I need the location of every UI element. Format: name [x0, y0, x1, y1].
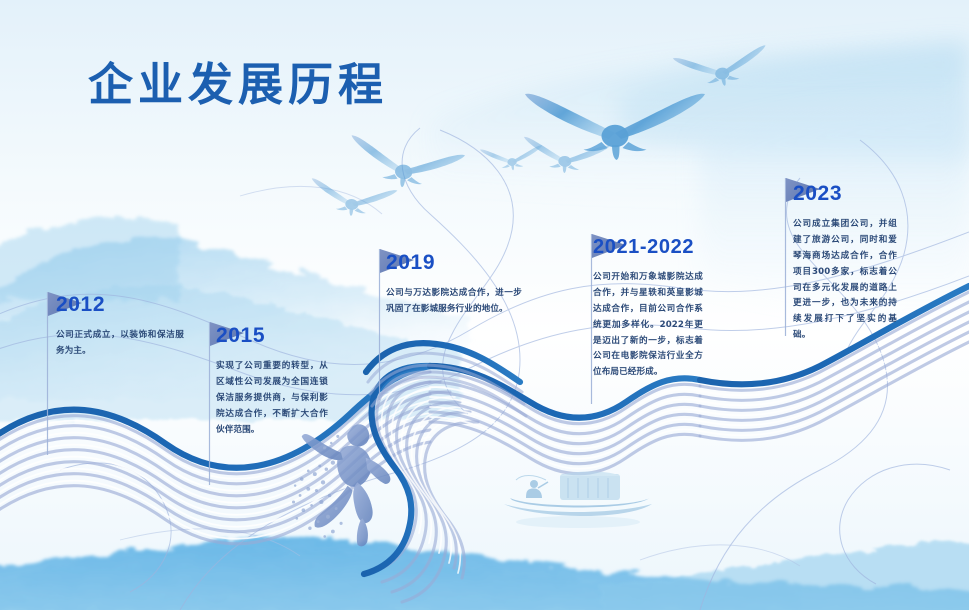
infographic-canvas: 企业发展历程 2012 公司正式成立，以装饰和保洁服务为主。 2015 实现了公…	[0, 0, 969, 610]
milestone-description: 实现了公司重要的转型，从区域性公司发展为全国连锁保洁服务提供商，与保利影院达成合…	[216, 359, 328, 438]
milestone-2012[interactable]: 2012 公司正式成立，以装饰和保洁服务为主。	[56, 294, 184, 360]
milestone-year: 2023	[793, 183, 897, 204]
milestone-description: 公司开始和万象城影院达成合作，并与星轶和英皇影城达成合作，目前公司合作系统更加多…	[593, 270, 703, 381]
milestone-description: 公司正式成立，以装饰和保洁服务为主。	[56, 328, 184, 360]
milestone-year: 2012	[56, 294, 184, 315]
milestone-year: 2021-2022	[593, 237, 703, 257]
milestone-year: 2019	[386, 252, 522, 273]
milestone-year: 2015	[216, 325, 328, 346]
milestone-2023[interactable]: 2023 公司成立集团公司，并组建了旅游公司，同时和爱琴海商场达成合作，合作项目…	[793, 183, 897, 344]
milestone-2021-2022[interactable]: 2021-2022 公司开始和万象城影院达成合作，并与星轶和英皇影城达成合作，目…	[593, 237, 703, 381]
milestone-description: 公司成立集团公司，并组建了旅游公司，同时和爱琴海商场达成合作，合作项目300多家…	[793, 217, 897, 344]
milestone-description: 公司与万达影院达成合作，进一步巩固了在影城服务行业的地位。	[386, 286, 522, 318]
page-title: 企业发展历程	[88, 62, 388, 107]
milestone-2019[interactable]: 2019 公司与万达影院达成合作，进一步巩固了在影城服务行业的地位。	[386, 252, 522, 318]
milestone-2015[interactable]: 2015 实现了公司重要的转型，从区域性公司发展为全国连锁保洁服务提供商，与保利…	[216, 325, 328, 438]
